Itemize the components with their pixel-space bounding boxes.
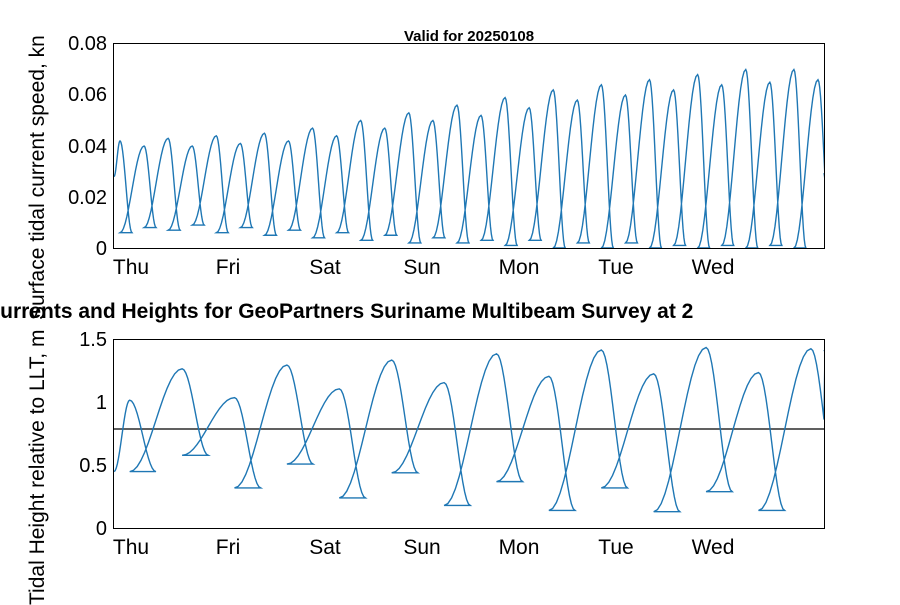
xtick-label: Wed [678,536,748,560]
xtick-label: Sat [290,536,360,560]
ylabel-current-speed: Surface tidal current speed, kn [26,35,50,320]
xtick-label: Fri [193,536,263,560]
xtick-label: Thu [96,256,166,280]
xtick-label: Thu [96,536,166,560]
tidal-height-plot [114,340,824,528]
xtick-label: Sun [387,536,457,560]
xtick-label: Sun [387,256,457,280]
subtitle: Valid for 20250108 [113,28,825,45]
xtick-label: Tue [581,256,651,280]
xtick-label: Mon [484,536,554,560]
tidal-height-axes [113,339,825,529]
current-speed-axes [113,43,825,249]
figure: Valid for 20250108 0.08 0.06 0.04 0.02 0… [0,0,900,600]
main-title: Currents and Heights for GeoPartners Sur… [0,300,693,324]
ylabel-tidal-height: Tidal Height relative to LLT, m [26,330,50,605]
xtick-label: Mon [484,256,554,280]
xtick-label: Tue [581,536,651,560]
xtick-label: Sat [290,256,360,280]
current-speed-plot [114,44,824,248]
xtick-label: Wed [678,256,748,280]
xtick-label: Fri [193,256,263,280]
